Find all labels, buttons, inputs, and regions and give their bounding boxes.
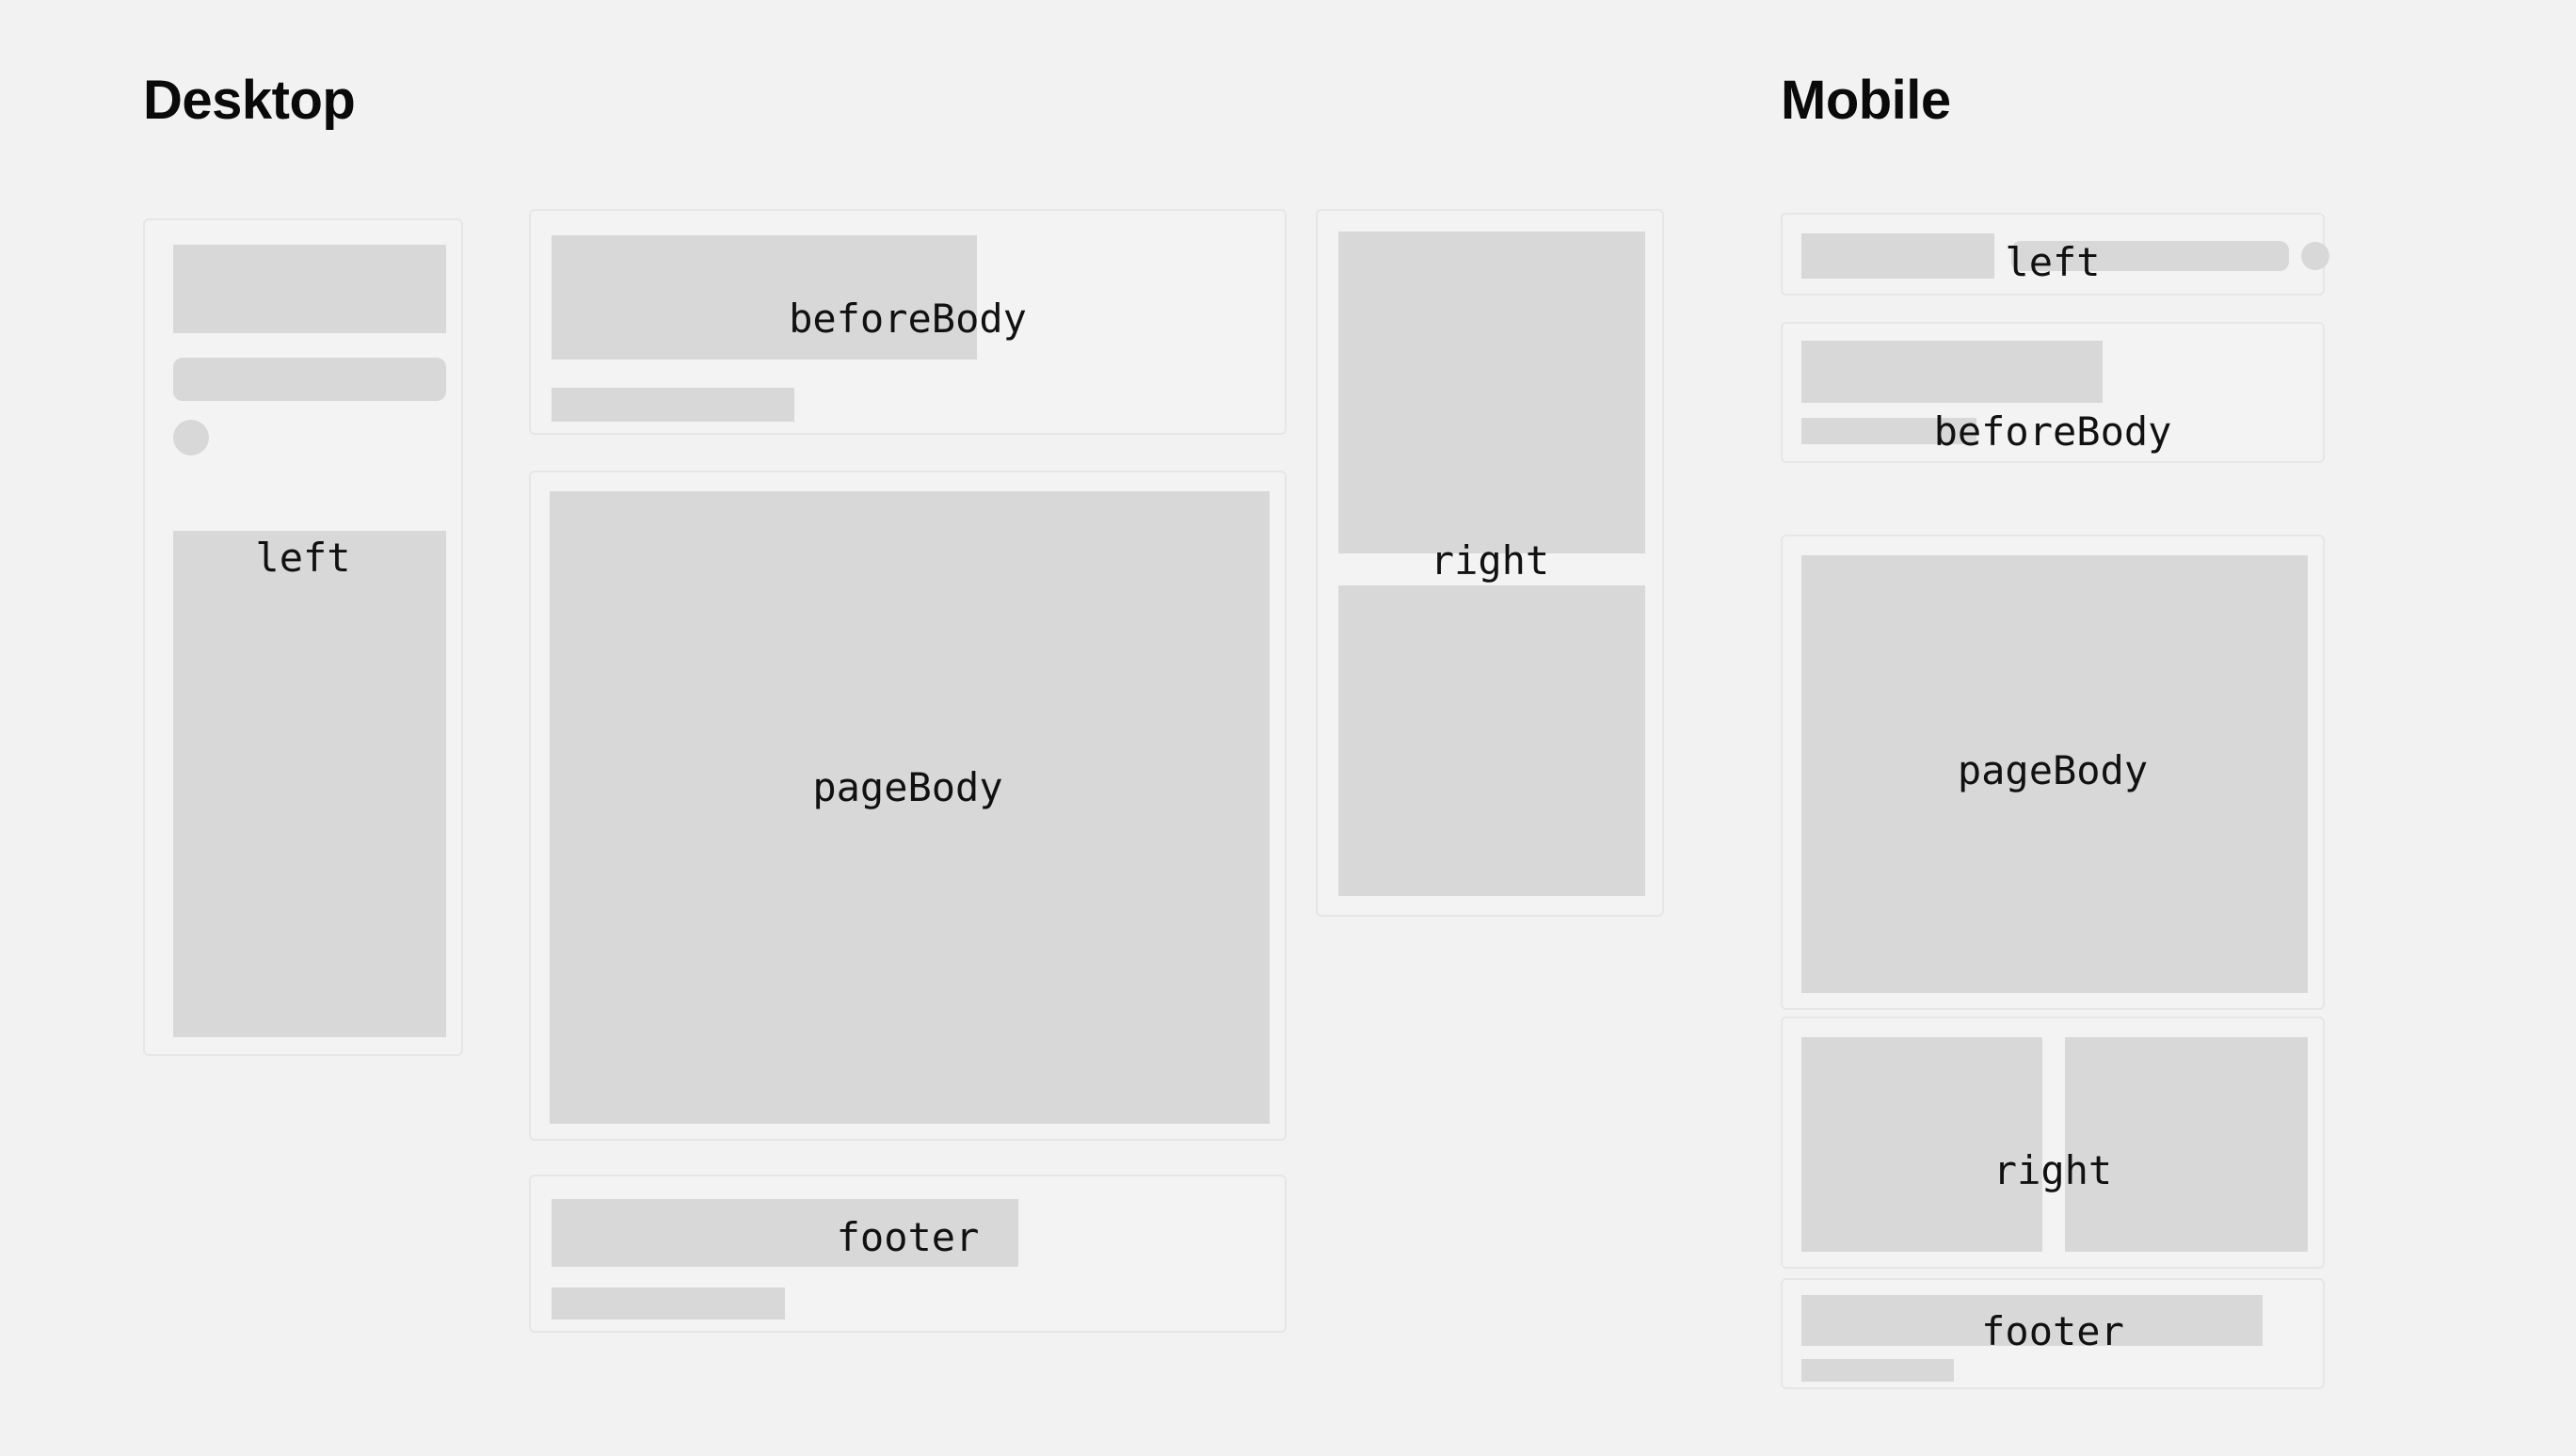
skeleton-block-fill bbox=[550, 491, 1270, 1124]
desktop-left-region-card bbox=[143, 218, 463, 1056]
mobile-left-region-card bbox=[1781, 213, 2325, 296]
desktop-pagebody-region-card bbox=[529, 471, 1287, 1141]
skeleton-block-wide bbox=[552, 235, 977, 360]
desktop-right-region-card bbox=[1316, 209, 1664, 917]
mobile-footer-region-card bbox=[1781, 1278, 2325, 1389]
page-title-desktop: Desktop bbox=[143, 73, 355, 128]
skeleton-bar-short bbox=[1801, 1359, 1954, 1382]
skeleton-bar-short bbox=[552, 1288, 785, 1320]
skeleton-block-tall bbox=[173, 531, 446, 1037]
skeleton-block-wide bbox=[1801, 341, 2103, 403]
mobile-pagebody-region-card bbox=[1781, 535, 2325, 1010]
skeleton-block-col-left bbox=[1801, 1037, 2042, 1252]
desktop-beforebody-region-card bbox=[529, 209, 1287, 435]
mobile-right-region-card bbox=[1781, 1016, 2325, 1269]
skeleton-bar-short bbox=[552, 388, 794, 422]
skeleton-block-fill bbox=[1801, 555, 2308, 993]
skeleton-block-col-right bbox=[2065, 1037, 2308, 1252]
skeleton-bar-wide bbox=[1801, 1295, 2263, 1346]
skeleton-block-lower bbox=[1338, 585, 1645, 896]
mobile-beforebody-region-card bbox=[1781, 322, 2325, 463]
skeleton-bar-short bbox=[1801, 418, 1976, 444]
skeleton-block-upper bbox=[1338, 232, 1645, 553]
desktop-footer-region-card bbox=[529, 1175, 1287, 1333]
skeleton-block-large bbox=[173, 245, 446, 333]
skeleton-bar-rounded bbox=[2011, 241, 2289, 271]
skeleton-block-square bbox=[1801, 233, 1994, 279]
skeleton-bar-rounded bbox=[173, 358, 446, 401]
page-title-mobile: Mobile bbox=[1781, 73, 1951, 128]
skeleton-avatar-circle bbox=[173, 420, 209, 456]
skeleton-avatar-circle bbox=[2301, 242, 2329, 270]
skeleton-bar-wide bbox=[552, 1199, 1018, 1267]
